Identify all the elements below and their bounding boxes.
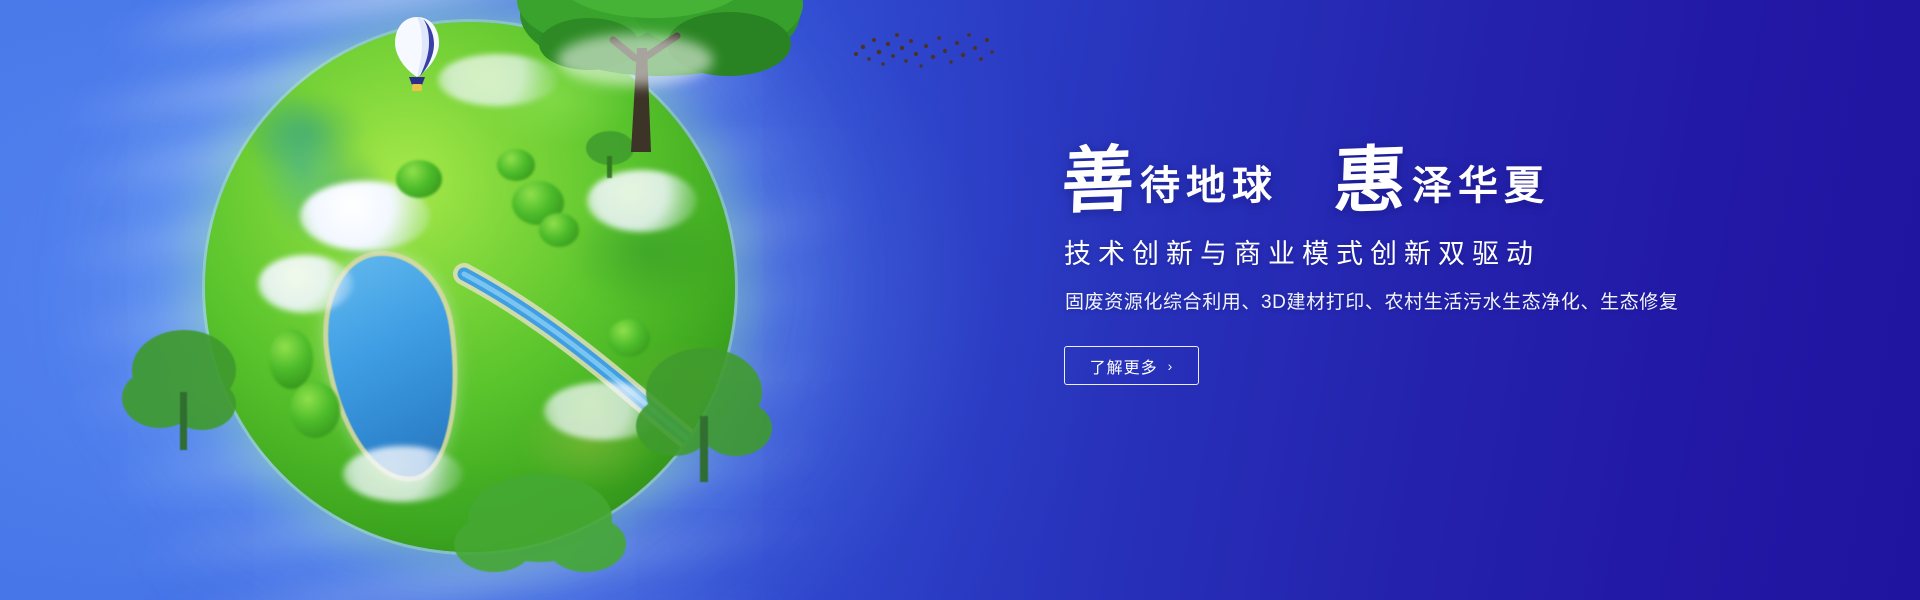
atmosphere-glow xyxy=(0,0,1090,600)
bush-icon xyxy=(290,382,340,438)
rim-tree-icon xyxy=(122,314,242,464)
cloud-bands xyxy=(0,0,1100,600)
lake-icon xyxy=(317,248,469,485)
headline-text-zehuaxia: 泽华夏 xyxy=(1412,166,1550,206)
bush-icon xyxy=(497,149,535,181)
bush-icon xyxy=(608,319,650,357)
hero-subtitle: 技术创新与商业模式创新双驱动 xyxy=(1064,232,1822,271)
page-title: 善 待地球 惠 泽华夏 xyxy=(1062,140,1822,212)
chevron-right-icon: › xyxy=(1168,359,1174,373)
bush-icon xyxy=(539,213,579,247)
hero-text-block: 善 待地球 惠 泽华夏 技术创新与商业模式创新双驱动 固废资源化综合利用、3D建… xyxy=(1062,140,1822,385)
surface-cloud-icon xyxy=(544,382,664,440)
river-icon xyxy=(454,266,735,499)
rim-tree-icon xyxy=(580,122,640,182)
headline-char-shan: 善 xyxy=(1061,143,1136,217)
surface-cloud-icon xyxy=(258,255,353,313)
grass-texture xyxy=(205,22,735,552)
learn-more-button[interactable]: 了解更多 › xyxy=(1064,346,1199,385)
sky-cloud-swirls xyxy=(0,0,1100,600)
surface-cloud-icon xyxy=(343,446,463,502)
rim-tree-icon xyxy=(450,452,630,600)
rim-tree-icon xyxy=(630,330,780,500)
hero-description: 固废资源化综合利用、3D建材打印、农村生活污水生态净化、生态修复 xyxy=(1065,287,1822,314)
surface-cloud-icon xyxy=(300,181,430,251)
bush-icon xyxy=(512,181,564,225)
hero-banner: 善 待地球 惠 泽华夏 技术创新与商业模式创新双驱动 固废资源化综合利用、3D建… xyxy=(0,0,1920,600)
hot-air-balloon-icon xyxy=(393,15,441,95)
bird-flock-icon xyxy=(850,26,995,81)
bush-icon xyxy=(269,329,313,389)
headline-char-hui: 惠 xyxy=(1333,143,1408,217)
bush-icon xyxy=(396,160,442,198)
green-planet-icon xyxy=(205,22,735,552)
mountain-texture xyxy=(205,43,450,331)
tiny-planet-artwork xyxy=(150,0,790,600)
headline-text-daidiqiu: 待地球 xyxy=(1140,166,1278,206)
tree-on-planet-icon xyxy=(485,0,815,182)
learn-more-label: 了解更多 xyxy=(1090,354,1158,378)
surface-cloud-icon xyxy=(587,170,697,232)
surface-cloud-icon xyxy=(438,54,558,106)
